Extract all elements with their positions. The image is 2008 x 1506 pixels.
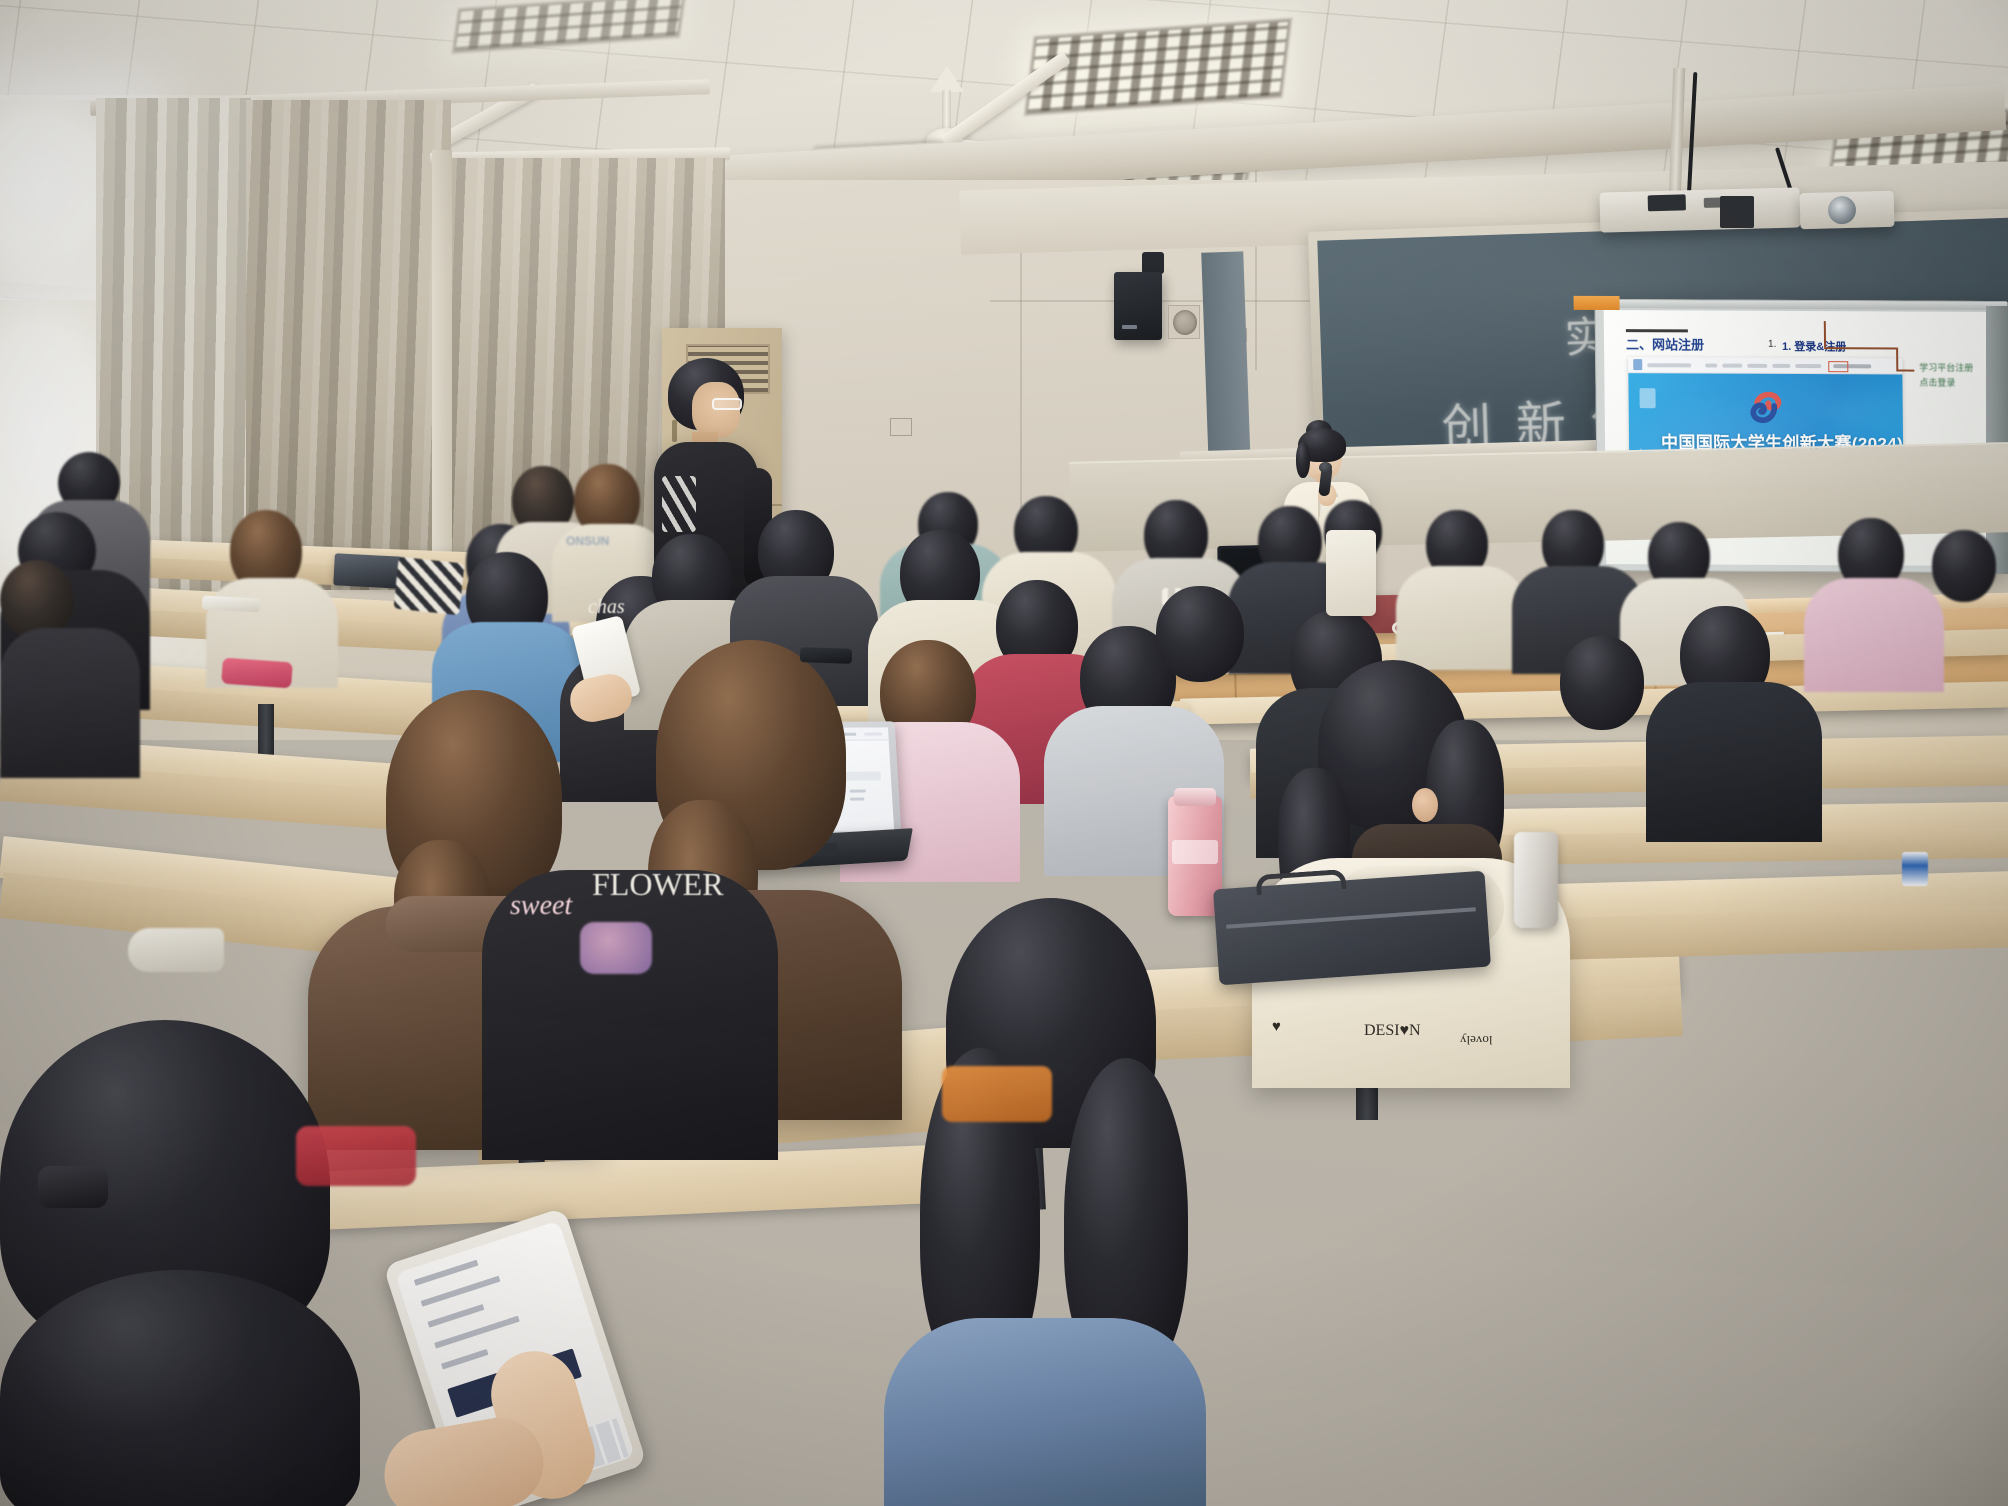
hoodie-print-design: DESI♥N [1364, 1022, 1421, 1040]
classroom-photo: 实践 创 新 创 业 二、网站注册 1. 1. 登录&注册 [0, 0, 2008, 1506]
phone-on-desk[interactable] [202, 595, 261, 612]
tablet[interactable] [333, 553, 403, 589]
phone-text-line [414, 1260, 479, 1286]
laptop-sleeve-bag [1213, 871, 1491, 986]
red-bag [296, 1126, 416, 1186]
phone-text-line [421, 1276, 501, 1307]
front-student-tee: sweet FLOWER [482, 830, 782, 1160]
thermos [1514, 832, 1558, 928]
phone-on-desk[interactable] [800, 647, 852, 664]
shoe [128, 928, 224, 972]
hand-holding-phone [380, 1230, 780, 1506]
hand-holding-phone-mid [560, 620, 680, 730]
hoodie-print-lovely: lovely [1460, 1032, 1493, 1048]
front-student-right [868, 898, 1218, 1506]
tee-graphic [580, 922, 652, 974]
striped-item [393, 557, 464, 616]
hair-clip-black [38, 1166, 108, 1208]
tee-print-flower: FLOWER [592, 866, 724, 903]
phone-text-line [427, 1304, 484, 1328]
ear [1412, 788, 1438, 822]
bottle-label [1172, 840, 1218, 864]
phone-text-line [441, 1349, 489, 1370]
orange-bag [942, 1066, 1052, 1122]
front-student-shirt [884, 1318, 1206, 1506]
bottle-cap [1174, 788, 1216, 806]
tee-print-sweet: sweet [510, 890, 572, 922]
student-head [1156, 586, 1244, 682]
hoodie-heart-icon: ♥ [1272, 1018, 1281, 1035]
student-body [1646, 682, 1822, 842]
blue-cup [1902, 852, 1928, 886]
white-tote-bag [1326, 530, 1376, 616]
pencil-case [221, 658, 293, 689]
shirt-print: chas [588, 596, 625, 619]
